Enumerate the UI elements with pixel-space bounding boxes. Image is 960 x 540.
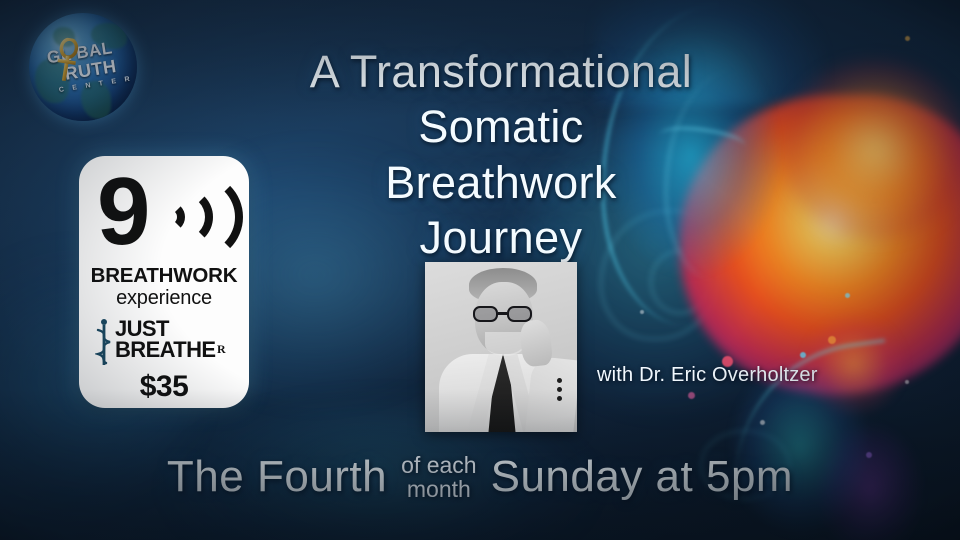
rod-of-asclepius-icon [95, 318, 113, 366]
schedule-small-line-2: month [407, 478, 471, 502]
photo-hand [519, 319, 554, 368]
presenter-photo [425, 262, 577, 432]
title-line-3: Breathwork [236, 155, 766, 210]
particle-dot [845, 293, 850, 298]
sound-wave-icon [155, 173, 243, 261]
schedule-of-each-month: of each month [401, 454, 476, 502]
badge-experience-label: experience [116, 288, 212, 309]
title-line-1: A Transformational [236, 44, 766, 99]
particle-dot [905, 380, 909, 384]
schedule-part-1: The Fourth [167, 452, 387, 502]
title-line-2: Somatic [236, 99, 766, 154]
particle-dot [640, 310, 644, 314]
logo-wordmark: GL BAL RUTH C E N T E R [14, 0, 153, 135]
schedule-small-line-1: of each [401, 454, 476, 478]
just-breathe-wordmark: JUST BREATHE [115, 318, 216, 360]
photo-beard [485, 332, 525, 356]
page-title: A Transformational Somatic Breathwork Jo… [236, 44, 766, 265]
nine-logo: 9 [89, 164, 239, 268]
badge-number: 9 [97, 166, 147, 258]
breathwork-price-badge[interactable]: 9 BREATHWORK experience JUST BREATHE R $… [79, 156, 249, 408]
badge-breathwork-label: BREATHWORK [91, 266, 238, 287]
particle-dot [688, 392, 695, 399]
brand-line-just: JUST [115, 318, 216, 339]
promotional-poster: GL BAL RUTH C E N T E R 9 BREATHWORK [0, 0, 960, 540]
energy-body-artwork [720, 290, 950, 540]
rx-symbol: R [217, 342, 226, 357]
schedule-line: The Fourth of each month Sunday at 5pm [0, 452, 960, 502]
glasses-icon [473, 306, 537, 322]
particle-dot [800, 352, 806, 358]
global-truth-center-logo[interactable]: GL BAL RUTH C E N T E R [22, 8, 144, 126]
schedule-part-2: Sunday at 5pm [491, 452, 793, 502]
brand-line-breathe: BREATHE [115, 339, 216, 360]
photo-buttons [557, 378, 562, 405]
just-breathe-logo: JUST BREATHE R [89, 316, 239, 368]
particle-dot [828, 336, 836, 344]
title-line-4: Journey [236, 210, 766, 265]
particle-dot [760, 420, 765, 425]
price-label: $35 [140, 370, 189, 404]
particle-dot [905, 36, 910, 41]
presenter-name: with Dr. Eric Overholtzer [597, 364, 818, 387]
